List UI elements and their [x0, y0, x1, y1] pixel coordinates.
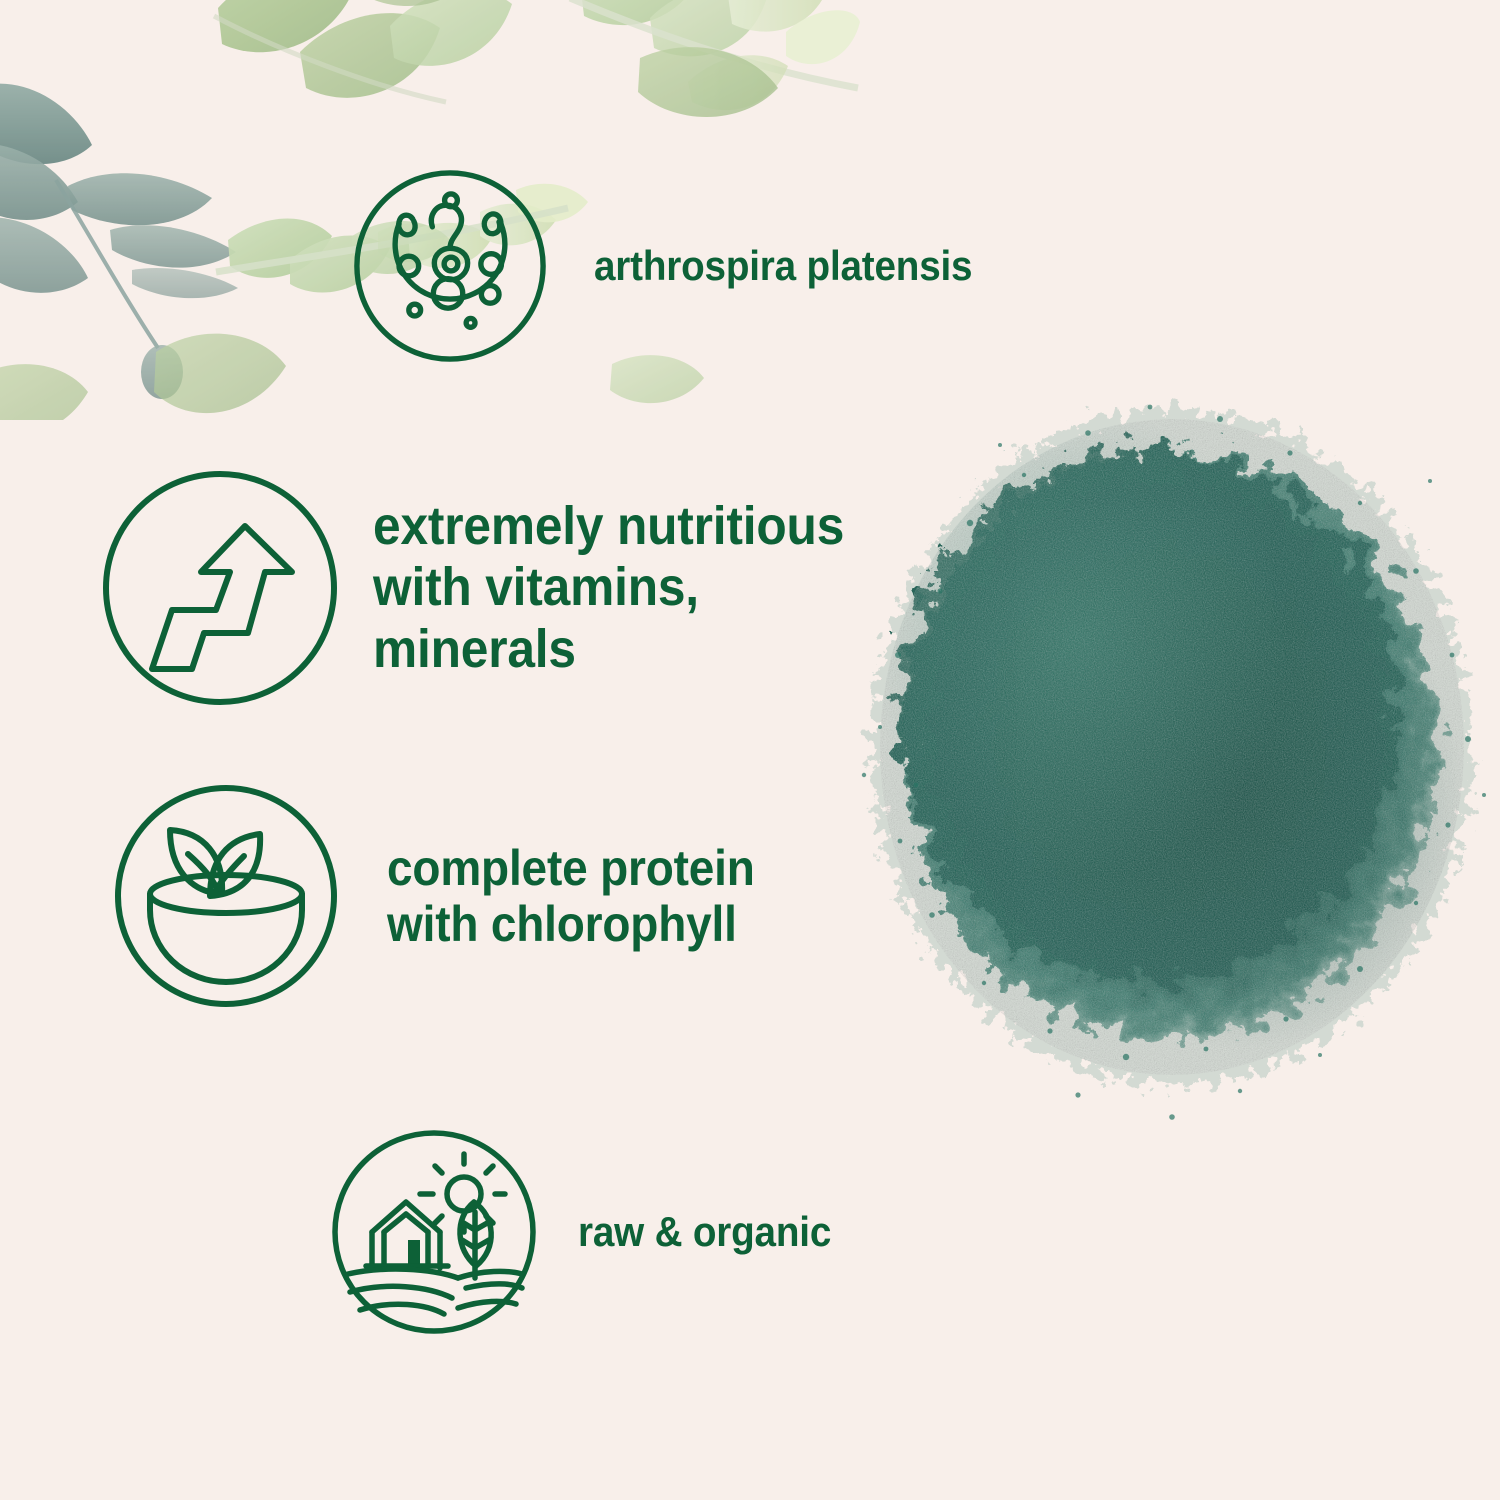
feature-item-complete-protein: complete protein with chlorophyll — [112, 782, 787, 1010]
leaf-group-right-sprig — [570, 0, 860, 110]
feature-label: extremely nutritious with vitamins, mine… — [373, 496, 844, 679]
powder-scatter — [862, 405, 1486, 1120]
feature-item-extremely-nutritious: extremely nutritious with vitamins, mine… — [100, 468, 885, 708]
bowl-with-leaves-icon — [112, 782, 340, 1010]
feature-label: arthrospira platensis — [594, 242, 972, 289]
upward-staircase-arrow-icon — [100, 468, 340, 708]
feature-label: complete protein with chlorophyll — [387, 840, 755, 953]
feature-item-arthrospira-platensis: arthrospira platensis — [352, 168, 1005, 364]
farm-sun-leaf-icon — [330, 1128, 538, 1336]
leaf-group-top-cluster — [214, 0, 512, 102]
spirulina-powder-pile — [820, 355, 1500, 1165]
feature-item-raw-and-organic: raw & organic — [330, 1128, 853, 1336]
leaf-group-gray-eucalyptus — [0, 84, 238, 399]
product-benefits-graphic: arthrospira platensis extremely nutritio… — [0, 0, 1500, 1500]
microorganism-cell-icon — [352, 168, 548, 364]
feature-label: raw & organic — [578, 1208, 831, 1255]
